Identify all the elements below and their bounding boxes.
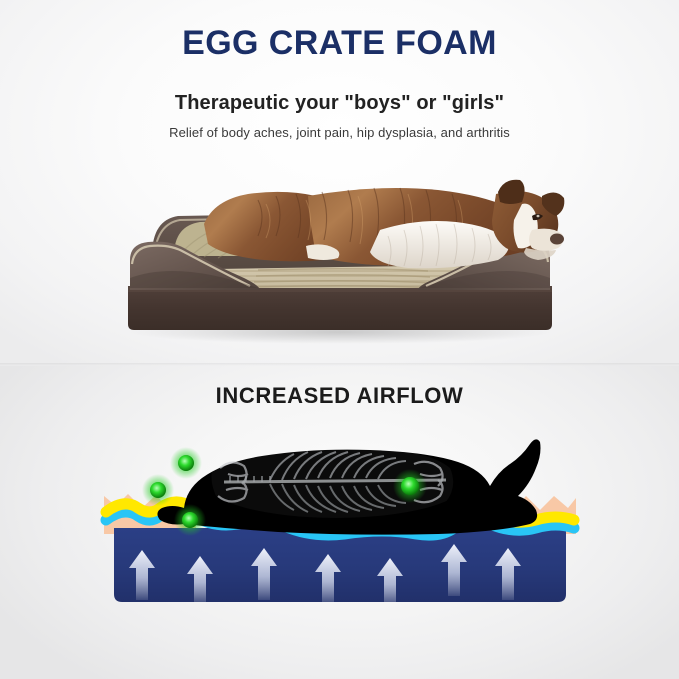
page-title: EGG CRATE FOAM <box>0 24 679 63</box>
dog-eye-shine <box>537 215 540 218</box>
pressure-point-shoulder <box>393 469 427 503</box>
airflow-diagram <box>98 428 582 610</box>
pressure-point-lower-spine <box>170 447 202 479</box>
dog-silhouette-xray <box>142 439 541 536</box>
tagline: Relief of body aches, joint pain, hip dy… <box>0 125 679 140</box>
section-title-airflow: INCREASED AIRFLOW <box>0 383 679 409</box>
dog-nose <box>550 234 564 245</box>
subtitle: Therapeutic your "boys" or "girls" <box>0 92 679 115</box>
pressure-point-hip <box>142 474 174 506</box>
xray-skeleton <box>206 446 466 518</box>
bed-base <box>128 286 552 330</box>
pressure-point-rear-knee <box>174 504 206 536</box>
dog-bed-photo <box>108 160 572 350</box>
dog-ear-left <box>498 180 525 204</box>
product-feature-poster: EGG CRATE FOAM Therapeutic your "boys" o… <box>0 0 679 679</box>
